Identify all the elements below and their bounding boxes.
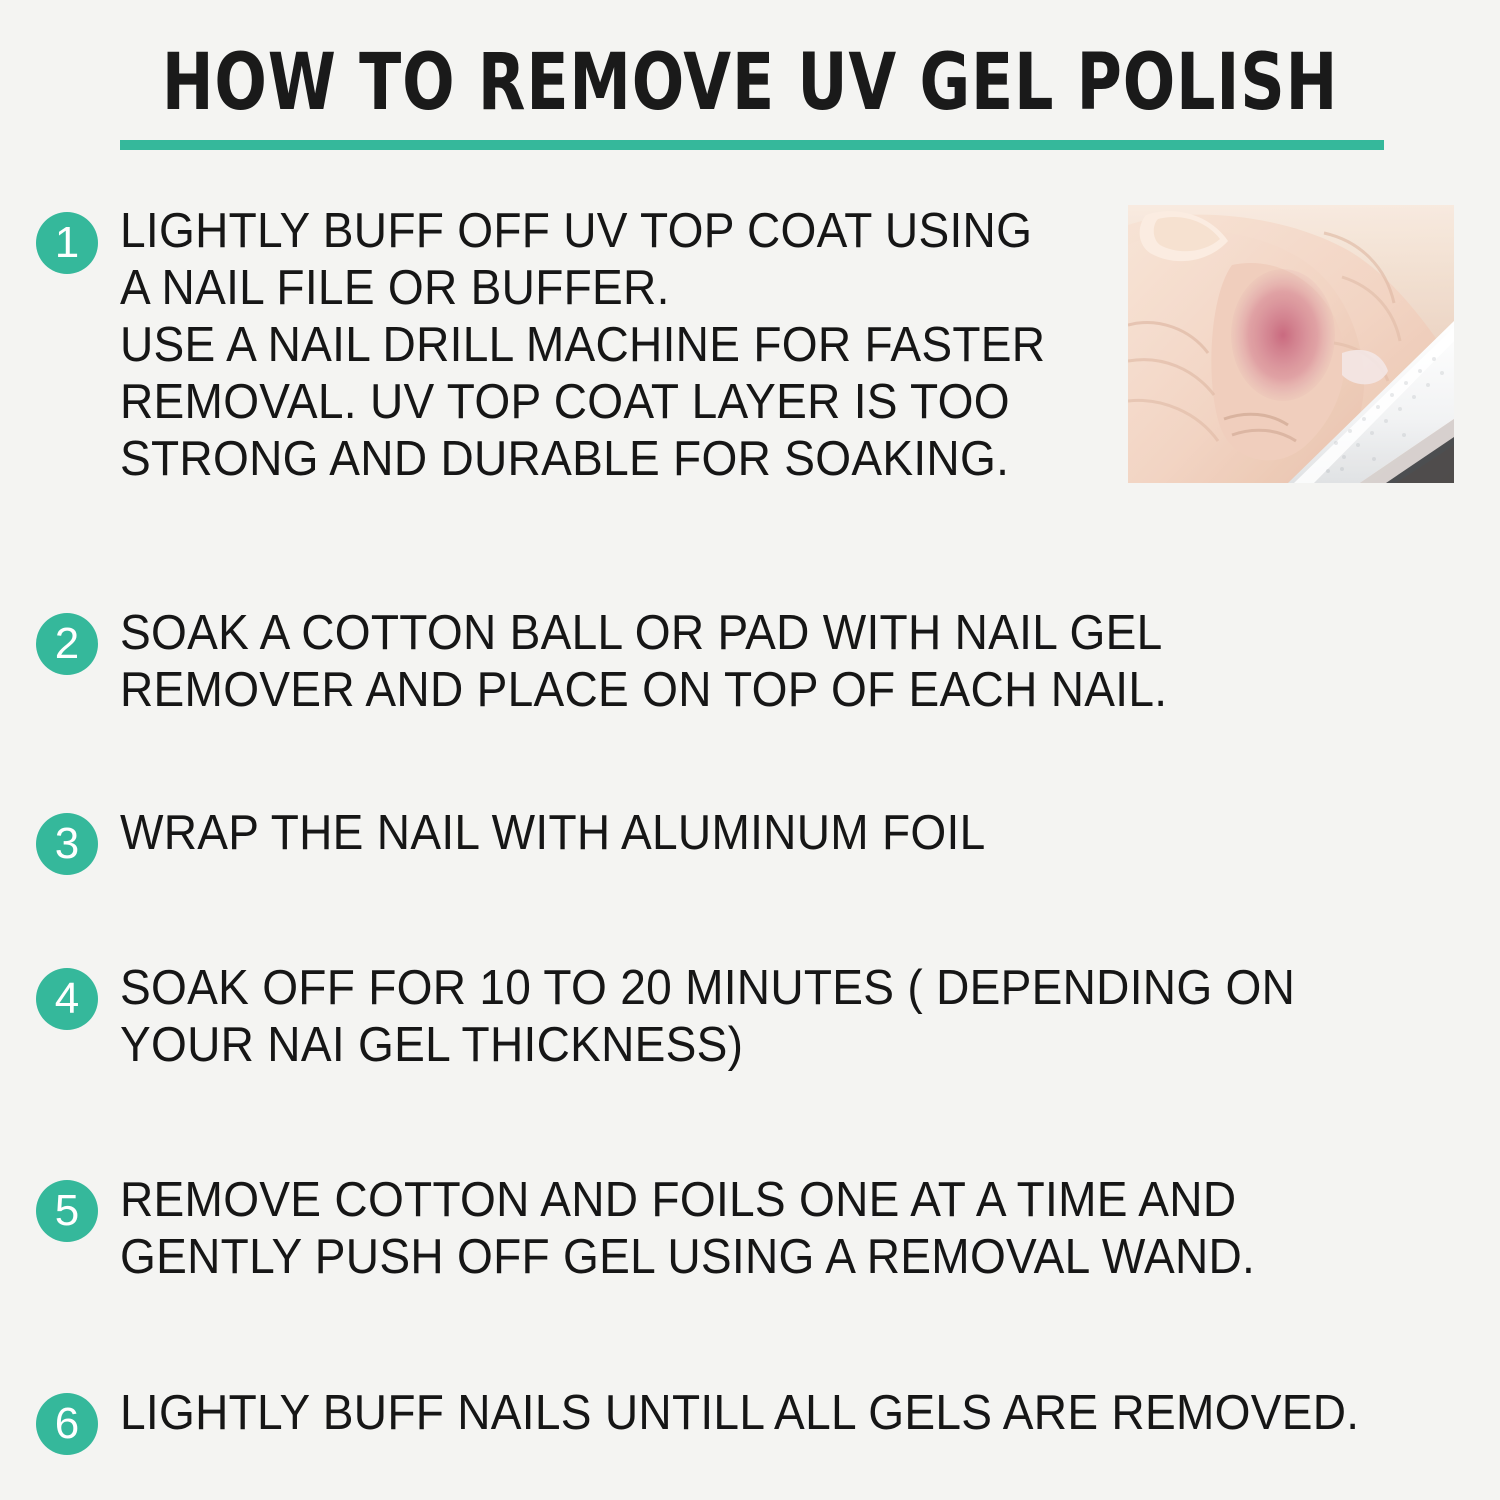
step-number-badge-1: 1 [36, 212, 98, 274]
step-number-badge-6: 6 [36, 1393, 98, 1455]
step-number-badge-4: 4 [36, 968, 98, 1030]
step-number-badge-3: 3 [36, 813, 98, 875]
step-text-2: SOAK A COTTON BALL OR PAD WITH NAIL GEL … [120, 605, 1380, 719]
step-text-1: LIGHTLY BUFF OFF UV TOP COAT USING A NAI… [120, 203, 1069, 488]
step-1-photo [1128, 205, 1454, 483]
step-number-badge-2: 2 [36, 613, 98, 675]
infographic-page: HOW TO REMOVE UV GEL POLISH 1 LIGHTLY BU… [0, 0, 1500, 1500]
step-text-4: SOAK OFF FOR 10 TO 20 MINUTES ( DEPENDIN… [120, 960, 1398, 1074]
step-text-6: LIGHTLY BUFF NAILS UNTILL ALL GELS ARE R… [120, 1385, 1417, 1442]
step-number-badge-5: 5 [36, 1180, 98, 1242]
step-text-3: WRAP THE NAIL WITH ALUMINUM FOIL [120, 805, 1380, 862]
step-text-5: REMOVE COTTON AND FOILS ONE AT A TIME AN… [120, 1172, 1380, 1286]
hand-with-nail-file-illustration [1128, 205, 1454, 483]
